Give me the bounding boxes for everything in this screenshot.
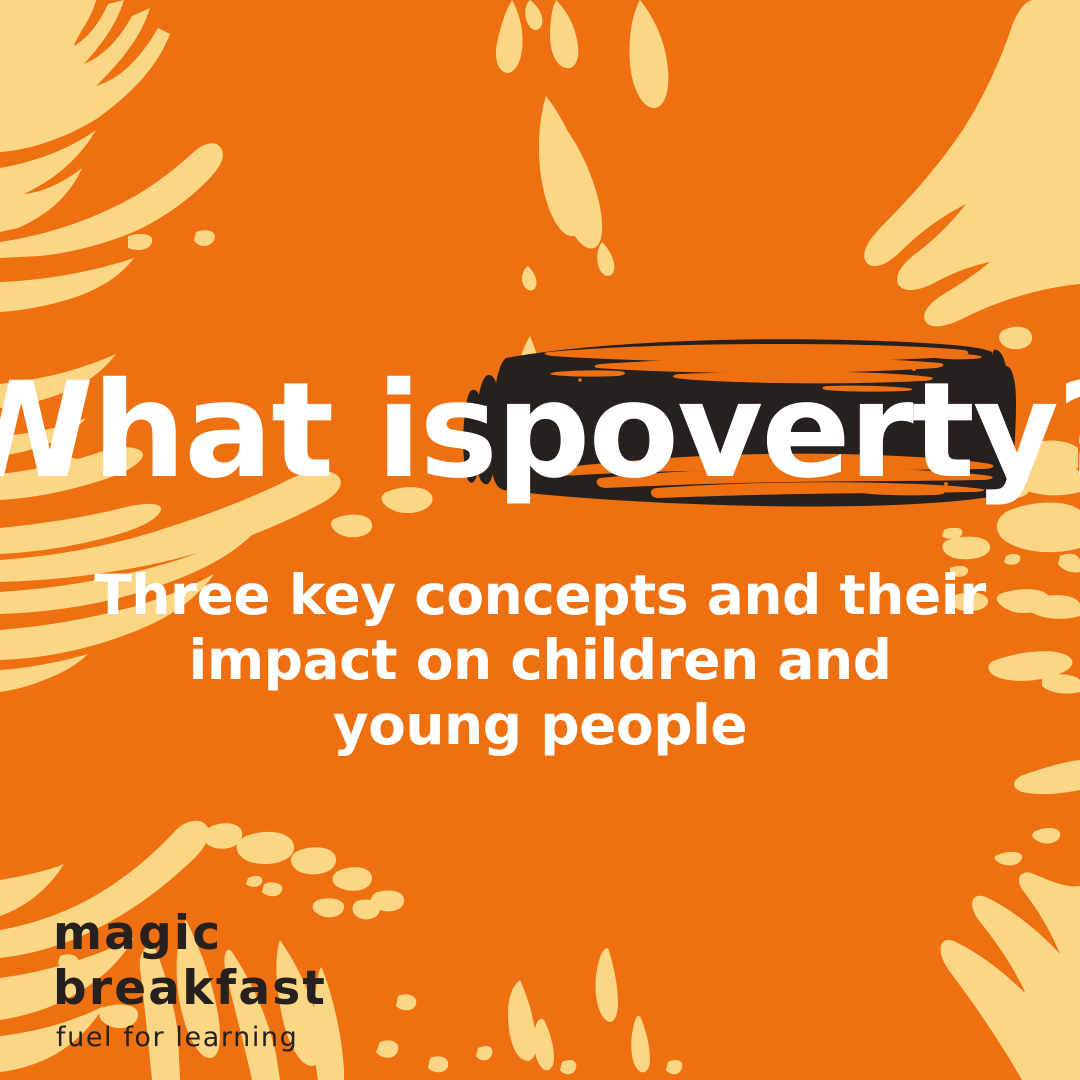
subtitle-line-2: impact on children and	[0, 628, 1080, 693]
magic-breakfast-logo: magic breakfast fuel for learning	[53, 907, 473, 1051]
poster-canvas: What ispoverty? Three key concepts and t…	[0, 0, 1080, 1080]
subtitle: Three key concepts and their impact on c…	[0, 563, 1080, 758]
headline-part-highlighted: poverty?	[496, 365, 1080, 497]
headline-part-plain: What is	[0, 365, 496, 497]
logo-line-magic: magic	[53, 907, 473, 962]
subtitle-line-3: young people	[0, 693, 1080, 758]
headline-block: What ispoverty?	[0, 336, 1080, 526]
logo-line-breakfast: breakfast	[53, 962, 473, 1017]
page-title: What ispoverty?	[0, 336, 1080, 526]
subtitle-line-1: Three key concepts and their	[0, 563, 1080, 628]
logo-tagline: fuel for learning	[56, 1024, 473, 1051]
